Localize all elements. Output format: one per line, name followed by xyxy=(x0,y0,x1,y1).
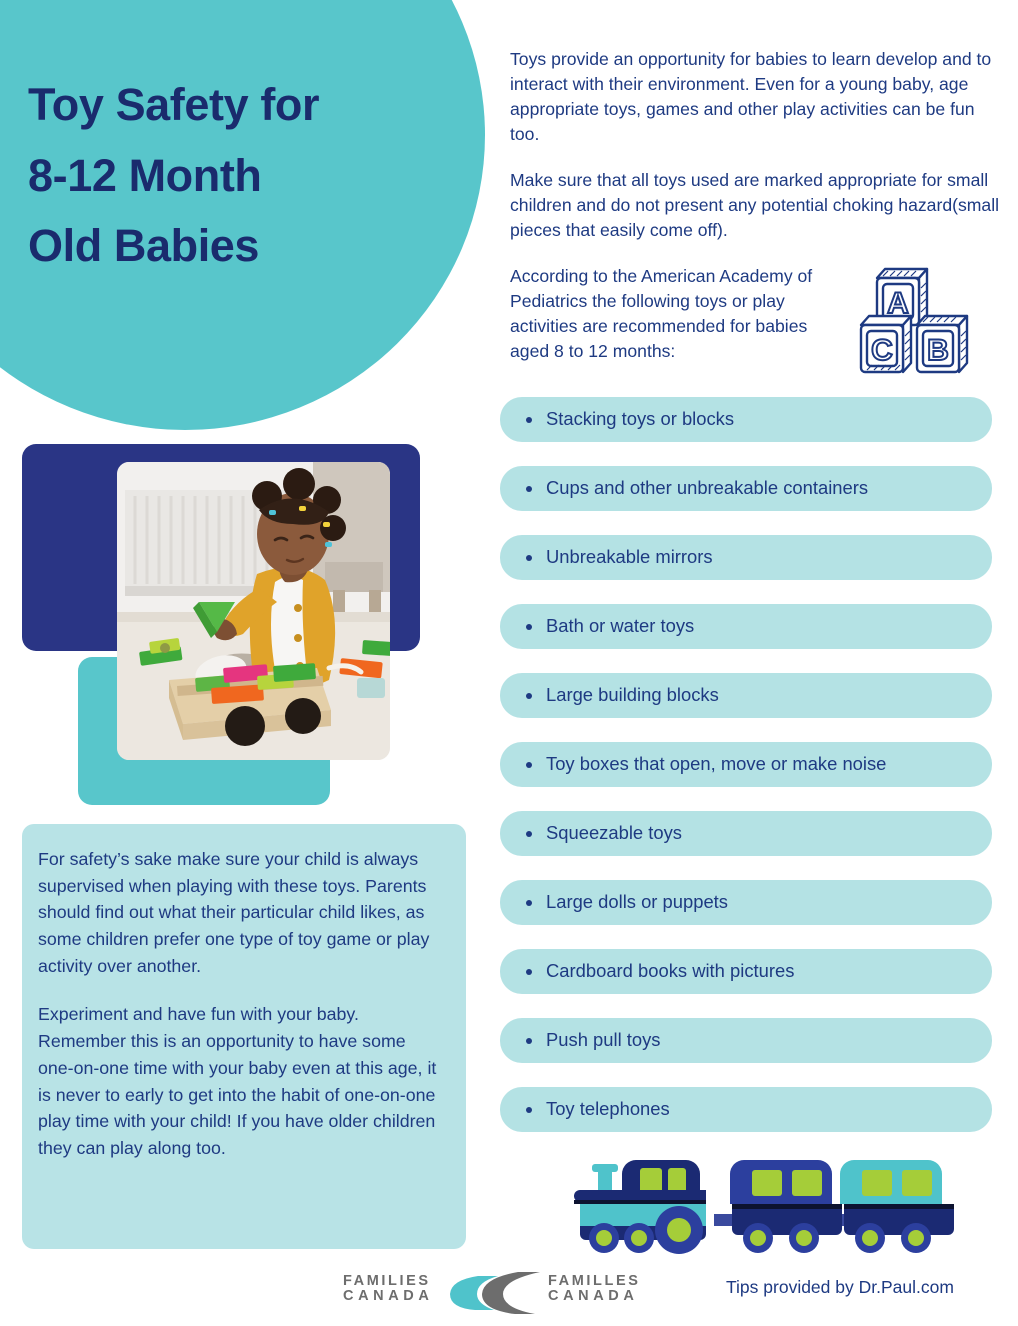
list-item-label: Push pull toys xyxy=(546,1031,661,1049)
list-item-label: Toy telephones xyxy=(546,1100,670,1118)
list-item-label: Squeezable toys xyxy=(546,824,682,842)
block-letter-c: C xyxy=(871,334,893,367)
list-item-label: Large building blocks xyxy=(546,686,719,704)
bullet-icon xyxy=(526,900,532,906)
list-item-label: Cups and other unbreakable containers xyxy=(546,479,868,497)
safety-text-panel: For safety’s sake make sure your child i… xyxy=(22,824,466,1249)
safety-paragraph-1: For safety’s sake make sure your child i… xyxy=(38,846,442,979)
bullet-icon xyxy=(526,762,532,768)
list-item-label: Cardboard books with pictures xyxy=(546,962,794,980)
list-item: Squeezable toys xyxy=(500,811,992,856)
page-title-line-2: 8-12 Month xyxy=(28,141,458,212)
list-item: Stacking toys or blocks xyxy=(500,397,992,442)
list-item-label: Bath or water toys xyxy=(546,617,694,635)
intro-paragraph-1: Toys provide an opportunity for babies t… xyxy=(510,47,1002,147)
footer-credit: Tips provided by Dr.Paul.com xyxy=(726,1277,954,1298)
list-item-label: Large dolls or puppets xyxy=(546,893,728,911)
bullet-icon xyxy=(526,624,532,630)
block-letter-a: A xyxy=(887,287,909,320)
logo-text-canada-fr: CANADA xyxy=(548,1288,638,1304)
bullet-icon xyxy=(526,969,532,975)
list-item: Cardboard books with pictures xyxy=(500,949,992,994)
list-item: Unbreakable mirrors xyxy=(500,535,992,580)
page-title-line-1: Toy Safety for xyxy=(28,70,458,141)
page-title: Toy Safety for 8-12 Month Old Babies xyxy=(28,70,458,282)
bullet-icon xyxy=(526,1038,532,1044)
safety-paragraph-2: Experiment and have fun with your baby. … xyxy=(38,1001,442,1161)
logo-text-families: FAMILIES xyxy=(343,1273,431,1289)
page-title-line-3: Old Babies xyxy=(28,211,458,282)
list-item-label: Unbreakable mirrors xyxy=(546,548,713,566)
list-item: Toy boxes that open, move or make noise xyxy=(500,742,992,787)
bullet-icon xyxy=(526,555,532,561)
list-item: Bath or water toys xyxy=(500,604,992,649)
list-item: Toy telephones xyxy=(500,1087,992,1132)
families-canada-logo: FAMILIES CANADA FAMILLES CANADA xyxy=(343,1268,688,1316)
baby-playing-photo xyxy=(117,462,390,760)
toy-train-icon xyxy=(566,1148,966,1263)
bullet-icon xyxy=(526,417,532,423)
list-item: Push pull toys xyxy=(500,1018,992,1063)
abc-blocks-icon: A C B xyxy=(855,258,990,383)
bullet-icon xyxy=(526,486,532,492)
bullet-icon xyxy=(526,831,532,837)
list-item: Cups and other unbreakable containers xyxy=(500,466,992,511)
logo-text-familles: FAMILLES xyxy=(548,1273,641,1289)
intro-paragraph-2: Make sure that all toys used are marked … xyxy=(510,168,1002,243)
list-item: Large dolls or puppets xyxy=(500,880,992,925)
list-item-label: Stacking toys or blocks xyxy=(546,410,734,428)
recommended-toys-list: Stacking toys or blocks Cups and other u… xyxy=(500,397,992,1156)
bullet-icon xyxy=(526,693,532,699)
list-item-label: Toy boxes that open, move or make noise xyxy=(546,755,886,773)
bullet-icon xyxy=(526,1107,532,1113)
logo-text-canada-en: CANADA xyxy=(343,1288,433,1304)
infographic-page: Toy Safety for 8-12 Month Old Babies Toy… xyxy=(0,0,1018,1326)
block-letter-b: B xyxy=(927,334,949,367)
intro-paragraph-3: According to the American Academy of Ped… xyxy=(510,264,850,364)
list-item: Large building blocks xyxy=(500,673,992,718)
